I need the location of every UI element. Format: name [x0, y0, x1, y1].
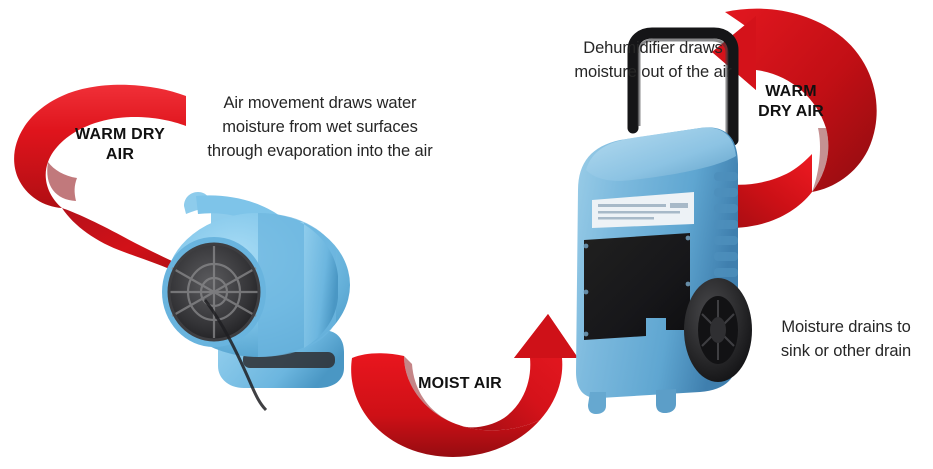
warm-dry-air-right-label: WARM DRY AIR	[736, 82, 846, 122]
air-movement-note: Air movement draws water moisture from w…	[185, 91, 455, 163]
moist-air-label: MOIST AIR	[400, 374, 520, 394]
air-mover-illustration	[162, 192, 350, 410]
dehumidifier-note: Dehumidifier draws moisture out of the a…	[538, 36, 768, 84]
warm-dry-air-left-label: WARM DRY AIR	[40, 125, 200, 165]
dehumidifier-illustration	[576, 33, 752, 414]
arrows-layer	[0, 0, 933, 469]
drain-note: Moisture drains to sink or other drain	[756, 315, 933, 363]
diagram-canvas: WARM DRY AIR Air movement draws water mo…	[0, 0, 933, 469]
